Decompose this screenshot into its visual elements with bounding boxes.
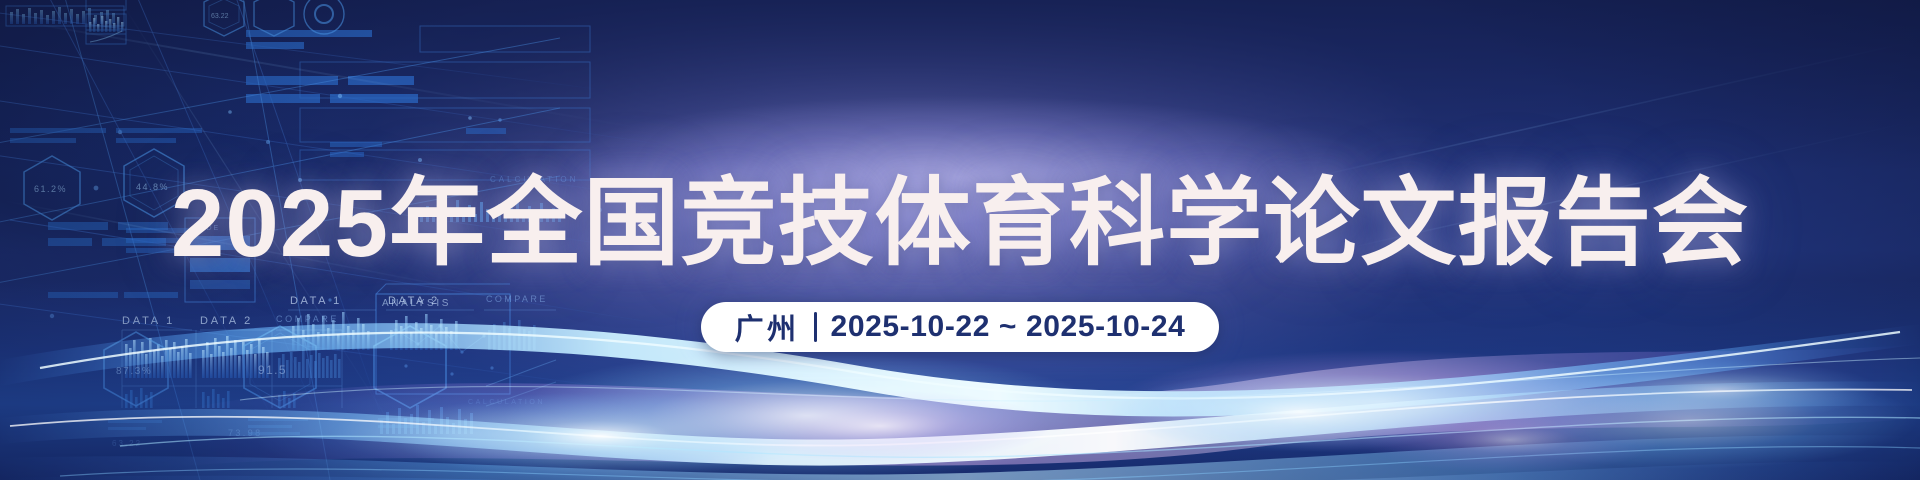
banner-title: 2025年全国竞技体育科学论文报告会 [171,174,1749,275]
pill-dates-label: 2025-10-22 ~ 2025-10-24 [831,310,1186,344]
subtitle-block: 广州 2025-10-22 ~ 2025-10-24 [0,302,1920,352]
pill-city-label: 广州 [735,306,800,348]
city-date-pill: 广州 2025-10-22 ~ 2025-10-24 [701,302,1220,352]
pill-separator-icon [814,312,817,342]
conference-banner: CALCULATION [0,0,1920,480]
